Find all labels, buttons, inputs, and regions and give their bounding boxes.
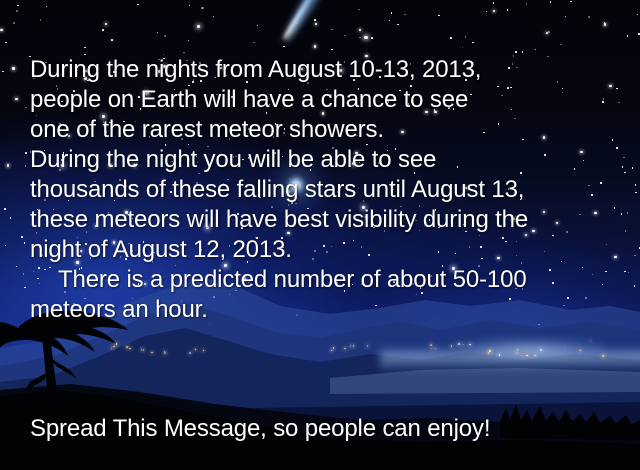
message-line-7: night of August 12, 2013.	[30, 235, 630, 265]
message-line-5: thousands of these falling stars until A…	[30, 175, 630, 205]
message-paragraph: During the nights from August 10-13, 201…	[30, 55, 630, 325]
message-line-2: people on Earth will have a chance to se…	[30, 85, 630, 115]
message-line-8: There is a predicted number of about 50-…	[30, 265, 630, 295]
message-text-layer: During the nights from August 10-13, 201…	[0, 0, 640, 470]
meteor-shower-poster: During the nights from August 10-13, 201…	[0, 0, 640, 470]
message-line-4: During the night you will be able to see	[30, 145, 630, 175]
message-line-3: one of the rarest meteor showers.	[30, 115, 630, 145]
message-line-6: these meteors will have best visibility …	[30, 205, 630, 235]
message-line-9: meteors an hour.	[30, 295, 630, 325]
message-line-1: During the nights from August 10-13, 201…	[30, 55, 630, 85]
message-footer: Spread This Message, so people can enjoy…	[30, 414, 490, 444]
